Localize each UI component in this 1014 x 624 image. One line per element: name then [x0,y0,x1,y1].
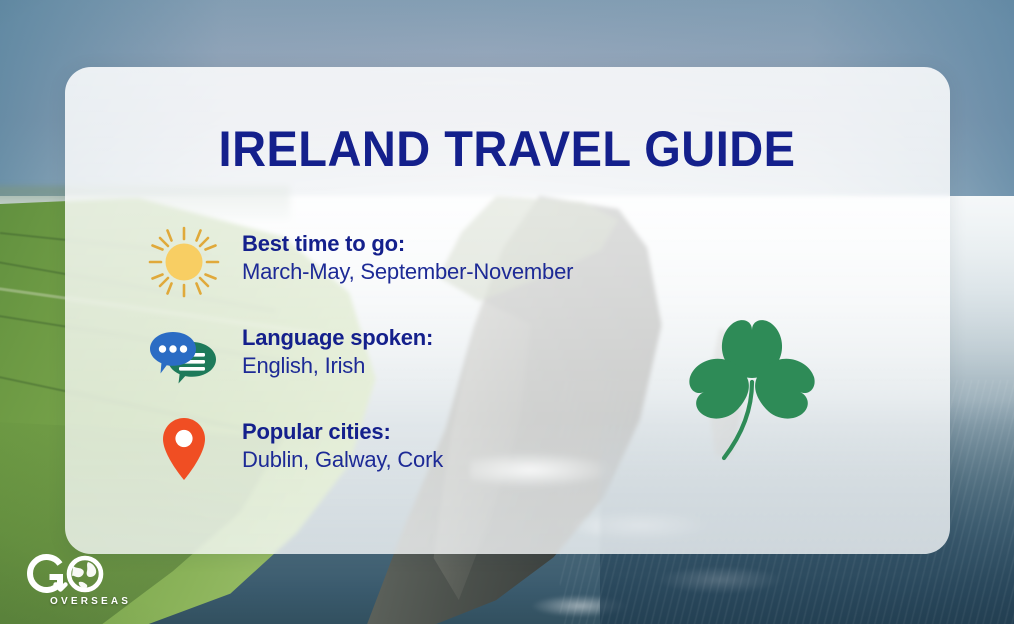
fact-list: Best time to go: March-May, September-No… [148,226,573,508]
page-title: IRELAND TRAVEL GUIDE [30,120,983,178]
fact-row-popular-cities: Popular cities: Dublin, Galway, Cork [148,414,573,486]
fact-value: Dublin, Galway, Cork [242,446,443,475]
fact-label: Language spoken: [242,324,433,352]
logo-wordmark: OVERSEAS [50,596,131,607]
fact-value: March-May, September-November [242,258,573,287]
fact-text-best-time: Best time to go: March-May, September-No… [242,226,573,286]
map-pin-icon [148,414,220,486]
go-globe-logo-icon [22,552,132,602]
fact-text-popular-cities: Popular cities: Dublin, Galway, Cork [242,414,443,474]
infographic-canvas: IRELAND TRAVEL GUIDE [0,0,1014,624]
sun-icon [148,226,220,298]
fact-label: Popular cities: [242,418,443,446]
fact-row-best-time: Best time to go: March-May, September-No… [148,226,573,298]
speech-bubbles-icon [148,320,220,392]
fact-row-language: Language spoken: English, Irish [148,320,573,392]
go-overseas-logo[interactable]: OVERSEAS [22,552,132,614]
fact-text-language: Language spoken: English, Irish [242,320,433,380]
shamrock-icon [672,306,832,476]
fact-label: Best time to go: [242,230,573,258]
fact-value: English, Irish [242,352,433,381]
